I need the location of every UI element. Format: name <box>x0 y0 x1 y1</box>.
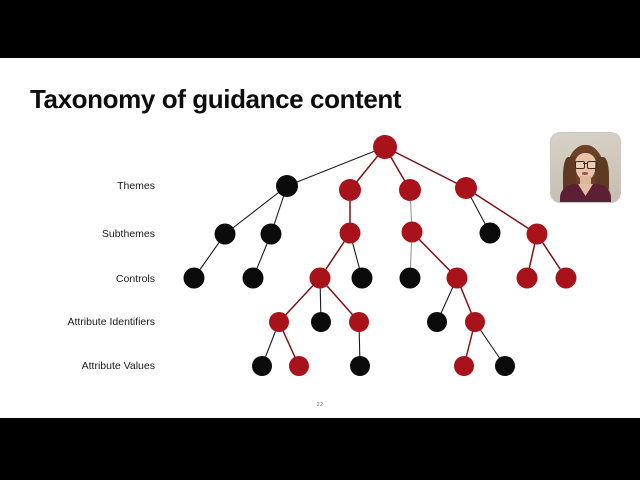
tree-node-group <box>184 135 577 376</box>
tree-node-red <box>556 268 577 289</box>
tree-node-black <box>350 356 370 376</box>
tree-node-black <box>276 175 298 197</box>
tree-node-red <box>454 356 474 376</box>
tree-node-black <box>400 268 421 289</box>
tree-node-black <box>311 312 331 332</box>
tree-node-red <box>402 222 423 243</box>
tree-edge-group <box>194 147 566 366</box>
tree-node-red <box>349 312 369 332</box>
tree-node-red <box>455 177 477 199</box>
tree-node-black <box>495 356 515 376</box>
presenter-webcam-overlay[interactable] <box>551 133 620 202</box>
tree-node-red <box>527 224 548 245</box>
tree-node-red <box>339 179 361 201</box>
presenter-mouth <box>582 172 588 175</box>
taxonomy-tree-diagram <box>0 58 640 418</box>
tree-node-red <box>447 268 468 289</box>
tree-node-black <box>184 268 205 289</box>
presenter-glasses-bridge <box>583 163 587 164</box>
tree-node-black <box>261 224 282 245</box>
tree-node-black <box>215 224 236 245</box>
tree-node-black <box>480 223 501 244</box>
tree-node-red <box>289 356 309 376</box>
tree-node-red <box>399 179 421 201</box>
tree-node-red <box>517 268 538 289</box>
tree-node-red <box>340 223 361 244</box>
tree-node-black <box>243 268 264 289</box>
presentation-slide: Taxonomy of guidance content Themes Subt… <box>0 58 640 418</box>
letterbox-bottom <box>0 418 640 480</box>
tree-node-black <box>252 356 272 376</box>
video-player-frame: Taxonomy of guidance content Themes Subt… <box>0 0 640 480</box>
tree-node-red <box>373 135 397 159</box>
presenter-glasses-right-lens <box>587 161 597 169</box>
slide-page-number: 22 <box>0 402 640 408</box>
tree-edge <box>466 188 537 234</box>
tree-node-black <box>427 312 447 332</box>
tree-node-black <box>352 268 373 289</box>
letterbox-top <box>0 0 640 58</box>
tree-node-red <box>310 268 331 289</box>
tree-edge <box>287 147 385 186</box>
tree-node-red <box>465 312 485 332</box>
tree-node-red <box>269 312 289 332</box>
